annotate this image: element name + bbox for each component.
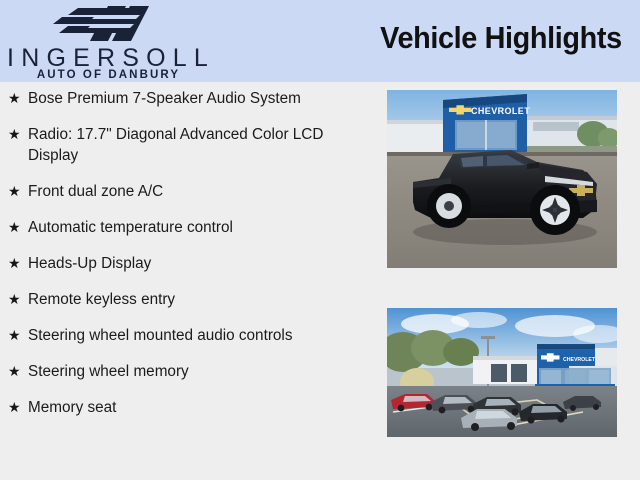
dealer-name: INGERSOLL	[0, 45, 215, 71]
list-item: ★ Bose Premium 7-Speaker Audio System	[0, 88, 380, 109]
dealer-logo: INGERSOLL AUTO OF DANBURY	[0, 3, 215, 81]
dealership-photo: CHEVROLET INGERSOLL	[387, 308, 617, 437]
svg-text:CHEVROLET: CHEVROLET	[563, 357, 596, 363]
header-band: INGERSOLL AUTO OF DANBURY Vehicle Highli…	[0, 0, 640, 82]
star-icon: ★	[8, 88, 28, 109]
list-item: ★ Steering wheel mounted audio controls	[0, 325, 380, 346]
star-icon: ★	[8, 253, 28, 274]
dealer-tagline: AUTO OF DANBURY	[0, 69, 215, 81]
feature-label: Radio: 17.7" Diagonal Advanced Color LCD…	[28, 124, 380, 166]
star-icon: ★	[8, 361, 28, 382]
feature-label: Front dual zone A/C	[28, 181, 380, 202]
list-item: ★ Automatic temperature control	[0, 217, 380, 238]
list-item: ★ Front dual zone A/C	[0, 181, 380, 202]
vehicle-photo: CHEVROLET	[387, 90, 617, 268]
ingersoll-wing-emblem	[48, 5, 166, 43]
feature-label: Remote keyless entry	[28, 289, 380, 310]
feature-label: Automatic temperature control	[28, 217, 380, 238]
feature-label: Heads-Up Display	[28, 253, 380, 274]
vehicle-highlights-slide: INGERSOLL AUTO OF DANBURY Vehicle Highli…	[0, 0, 640, 480]
star-icon: ★	[8, 325, 28, 346]
feature-label: Memory seat	[28, 397, 380, 418]
svg-text:CHEVROLET: CHEVROLET	[471, 106, 530, 116]
star-icon: ★	[8, 124, 28, 145]
star-icon: ★	[8, 289, 28, 310]
feature-label: Steering wheel memory	[28, 361, 380, 382]
star-icon: ★	[8, 397, 28, 418]
list-item: ★ Remote keyless entry	[0, 289, 380, 310]
star-icon: ★	[8, 181, 28, 202]
list-item: ★ Radio: 17.7" Diagonal Advanced Color L…	[0, 124, 380, 166]
list-item: ★ Heads-Up Display	[0, 253, 380, 274]
list-item: ★ Steering wheel memory	[0, 361, 380, 382]
list-item: ★ Memory seat	[0, 397, 380, 418]
feature-label: Steering wheel mounted audio controls	[28, 325, 380, 346]
feature-label: Bose Premium 7-Speaker Audio System	[28, 88, 380, 109]
feature-list: ★ Bose Premium 7-Speaker Audio System ★ …	[0, 88, 380, 433]
star-icon: ★	[8, 217, 28, 238]
page-title: Vehicle Highlights	[380, 20, 622, 56]
